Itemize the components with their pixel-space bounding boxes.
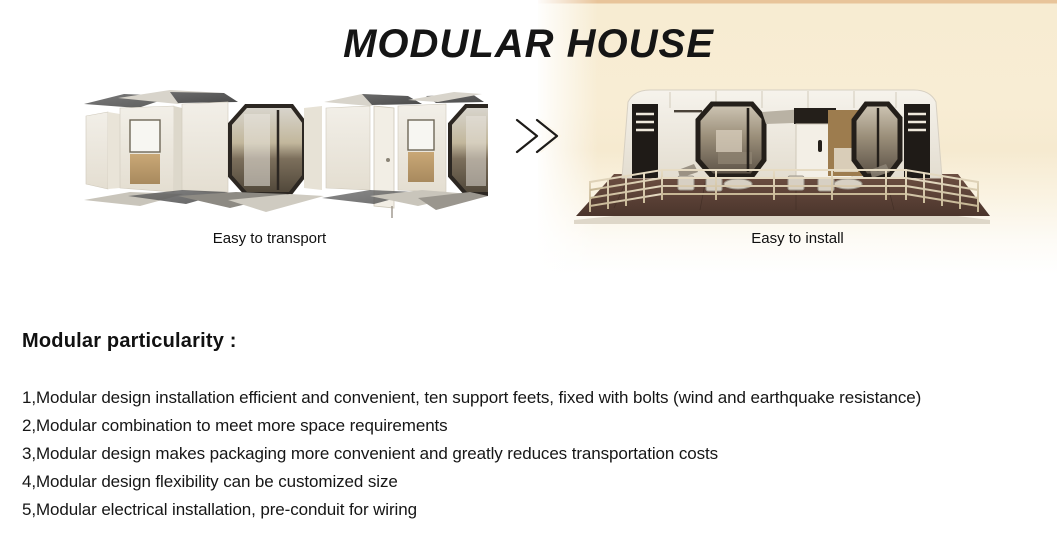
assembled-house-illustration <box>566 78 996 228</box>
modular-house-page: MODULAR HOUSE <box>0 0 1057 545</box>
page-title: MODULAR HOUSE <box>0 22 1057 67</box>
list-item: 1,Modular design installation efficient … <box>22 384 1052 412</box>
details-list: 1,Modular design installation efficient … <box>22 384 1052 524</box>
list-item: 4,Modular design flexibility can be cust… <box>22 468 1052 496</box>
details-section: Modular particularity : 1,Modular design… <box>0 276 1057 545</box>
list-item: 5,Modular electrical installation, pre-c… <box>22 496 1052 524</box>
list-item: 3,Modular design makes packaging more co… <box>22 440 1052 468</box>
caption-install: Easy to install <box>538 230 1057 247</box>
caption-transport: Easy to transport <box>0 230 539 247</box>
details-heading: Modular particularity : <box>22 330 237 353</box>
list-item: 2,Modular combination to meet more space… <box>22 412 1052 440</box>
module-group-1 <box>84 90 324 212</box>
double-chevron-right-icon <box>511 112 571 160</box>
hero-section: MODULAR HOUSE <box>0 0 1057 276</box>
folded-modules-illustration <box>78 84 488 224</box>
module-group-2 <box>322 92 488 218</box>
